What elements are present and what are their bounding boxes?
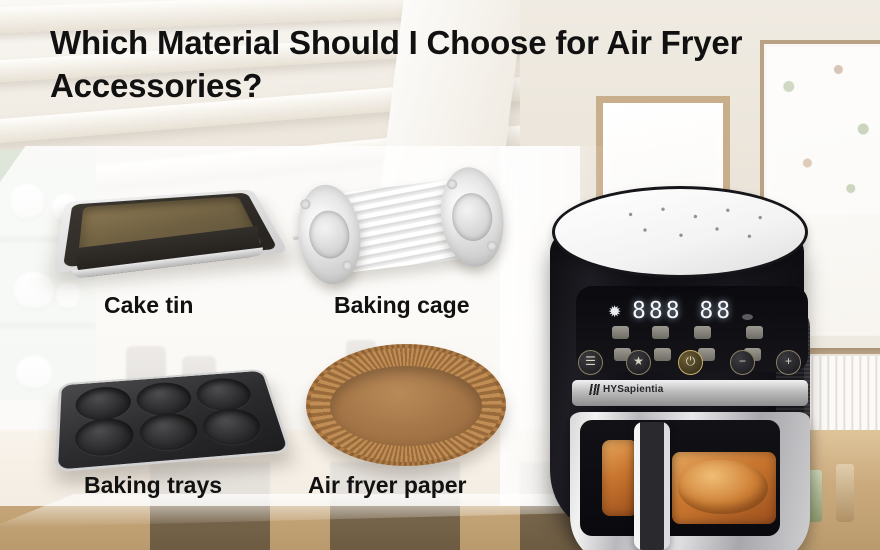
muffin-cup [135, 381, 194, 417]
muffin-cup [194, 377, 255, 413]
lid-printed-graphics [609, 203, 789, 255]
product-label-air-fryer-paper: Air fryer paper [308, 472, 467, 499]
paper-base [330, 366, 482, 446]
power-button[interactable]: ⏻ [678, 350, 703, 375]
increase-button[interactable]: + [776, 350, 801, 375]
menu-button[interactable]: ☰ [578, 350, 603, 375]
led-display: 888 88 [632, 298, 733, 324]
preset-fries-icon[interactable] [612, 326, 629, 339]
page-title: Which Material Should I Choose for Air F… [50, 22, 850, 108]
viewing-window-left [602, 440, 638, 516]
drawer-face [580, 420, 780, 536]
brand-logo: HYSapientia [590, 384, 664, 395]
fryer-top-lid [552, 186, 808, 278]
product-image-cake-tin [62, 163, 272, 283]
bottle [836, 464, 854, 522]
preheat-button[interactable]: ★ [626, 350, 651, 375]
product-label-cake-tin: Cake tin [104, 292, 193, 319]
muffin-cup [138, 412, 201, 453]
product-image-baking-trays [58, 358, 273, 468]
viewing-window-right [672, 452, 776, 524]
air-fryer-appliance: ✹ 888 88 ☰ ★ ⏻ [536, 186, 816, 550]
decrease-button[interactable]: − [730, 350, 755, 375]
product-label-baking-trays: Baking trays [84, 472, 222, 499]
muffin-cup [200, 407, 265, 447]
brand-name: HYSapientia [603, 384, 664, 395]
roast-chicken [678, 460, 768, 514]
air-fryer-accessories-infographic: Which Material Should I Choose for Air F… [0, 0, 880, 550]
muffin-cup [75, 385, 132, 422]
product-image-air-fryer-paper [306, 344, 506, 466]
preset-bacon-icon[interactable] [652, 326, 669, 339]
muffin-cup [75, 416, 135, 458]
button-row[interactable]: ☰ ★ ⏻ − + [574, 350, 810, 380]
fryer-drawer[interactable] [570, 412, 810, 550]
preset-steak-icon[interactable] [694, 326, 711, 339]
product-label-baking-cage: Baking cage [334, 292, 470, 319]
fan-icon: ✹ [608, 302, 621, 322]
indicator-dot-icon [742, 314, 753, 320]
preset-chicken-icon[interactable] [746, 326, 763, 339]
preset-icon-row[interactable] [612, 326, 812, 342]
drawer-handle[interactable] [634, 422, 670, 550]
brand-mark-icon [589, 384, 600, 395]
